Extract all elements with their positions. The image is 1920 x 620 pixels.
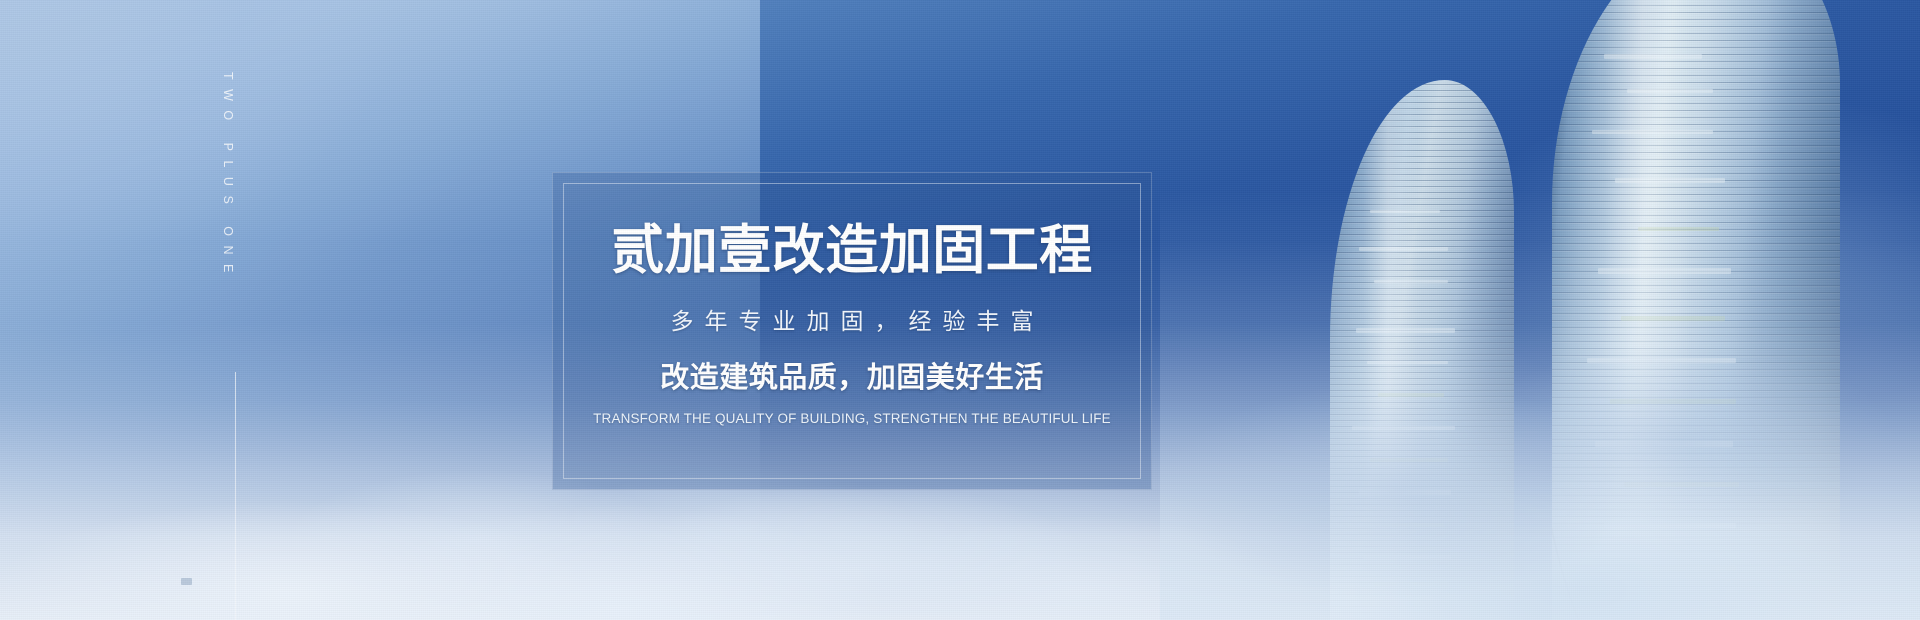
cloud-bank-right (1160, 190, 1920, 620)
brand-vertical-rule (235, 372, 236, 620)
page-tagline-english: TRANSFORM THE QUALITY OF BUILDING, STREN… (553, 411, 1151, 426)
headline-panel: 贰加壹改造加固工程 多年专业加固，经验丰富 改造建筑品质，加固美好生活 TRAN… (552, 172, 1152, 490)
brand-mark-icon (181, 578, 192, 585)
page-subtitle: 多年专业加固，经验丰富 (553, 308, 1151, 336)
hero-banner: TWO PLUS ONE 贰加壹改造加固工程 多年专业加固，经验丰富 改造建筑品… (0, 0, 1920, 620)
page-tagline: 改造建筑品质，加固美好生活 (553, 361, 1151, 396)
brand-vertical-label: TWO PLUS ONE (221, 72, 235, 282)
headline-panel-content: 贰加壹改造加固工程 多年专业加固，经验丰富 改造建筑品质，加固美好生活 TRAN… (553, 223, 1151, 426)
page-title: 贰加壹改造加固工程 (553, 223, 1151, 279)
